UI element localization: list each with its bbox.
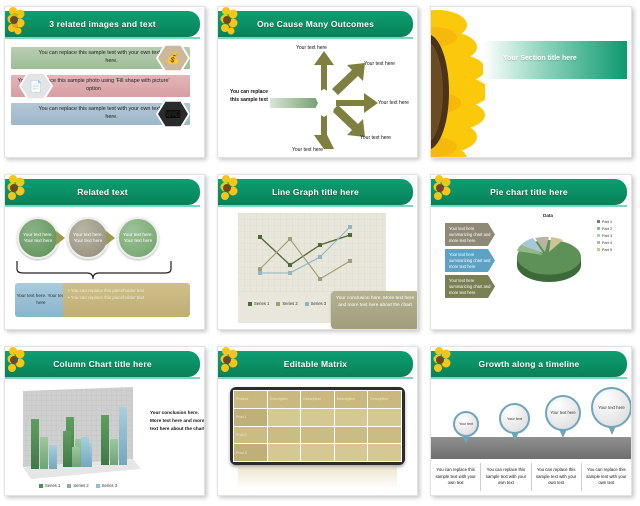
slide-title: Related text (77, 187, 128, 197)
column-chart-legend: Series 1 Series 2 Series 3 (39, 483, 117, 488)
pie-callout-text-2: Your text here summarizing chart and mor… (449, 252, 490, 269)
sunflower-icon (219, 347, 245, 377)
chevron-right-icon-2 (106, 231, 115, 245)
timeline-description-columns: You can replace this sample text with yo… (431, 463, 631, 491)
pie-callout-1[interactable]: Your text here summarizing chart and mor… (445, 223, 495, 246)
slide-banner: One Cause Many Outcomes (218, 11, 413, 37)
pin-tip-icon (559, 429, 567, 438)
header-cell-description-2: Description (301, 391, 335, 409)
circle-label-2: Your text here. Your text here (69, 232, 107, 245)
cell[interactable] (334, 426, 368, 444)
stacked-coins-image: 💰 (158, 45, 188, 71)
timeline-pin-1[interactable]: Your text (453, 411, 479, 444)
slide-banner: Line Graph title here (218, 179, 413, 205)
slide-title: One Cause Many Outcomes (257, 19, 374, 29)
pie-callout-text-1: Your text here summarizing chart and mor… (449, 226, 490, 243)
sunflower-icon (432, 175, 458, 205)
pin-tip-icon (462, 435, 470, 444)
legend-item-part-3: Part 3 (597, 233, 612, 240)
timeline-pin-4[interactable]: Your text here (591, 387, 632, 435)
pin-label-3: Your text here (550, 410, 575, 415)
legend-item-series-1: Series 1 (39, 483, 60, 488)
cell[interactable] (301, 408, 335, 426)
slide-pie-chart[interactable]: Pie chart title here Data Your text here… (430, 174, 632, 330)
conclusion-callout[interactable]: Your conclusion here. More text here and… (331, 291, 418, 329)
slide-title: Editable Matrix (284, 359, 347, 369)
slide-editable-matrix[interactable]: Editable Matrix Product Description (217, 346, 418, 496)
process-circle-2[interactable]: Your text here. Your text here (67, 217, 109, 259)
sunflower-icon (219, 175, 245, 205)
input-label: You can replace this sample text (228, 89, 270, 104)
conclusion-text: Your conclusion here. More text here and… (150, 409, 205, 432)
slide-banner: 3 related images and text (5, 11, 200, 37)
slide-thumbnail-grid: 3 related images and text You can replac… (0, 0, 640, 506)
timeline-column-4: You can replace this sample text with yo… (581, 463, 631, 491)
slide-banner: Related text (5, 179, 200, 205)
slide-cell-3[interactable]: Your Section title here (426, 0, 640, 168)
summary-text: Your text here. Your text here (15, 293, 67, 307)
cell[interactable] (267, 444, 301, 462)
pie-callout-2[interactable]: Your text here summarizing chart and mor… (445, 249, 495, 272)
header-cell-description-1: Description (267, 391, 301, 409)
legend-item-part-1: Part 1 (597, 219, 612, 226)
sunflower-icon (6, 175, 32, 205)
bullet-item-2: • You can replace this placeholder text (68, 294, 185, 301)
pie-callout-text-3: Your text here summarizing chart and mor… (449, 278, 490, 295)
slide-column-chart[interactable]: Column Chart title here (4, 346, 205, 496)
legend-item-series-2: Series 2 (67, 483, 88, 488)
slide-3-related-images[interactable]: 3 related images and text You can replac… (4, 6, 205, 158)
matrix-table[interactable]: Product Description Description Descript… (233, 390, 402, 462)
sunflower-icon (219, 7, 245, 37)
row-label-2: Prod 2 (234, 426, 268, 444)
section-title: Your Section title here (503, 55, 577, 62)
slide-cell-6[interactable]: Pie chart title here Data Your text here… (426, 168, 640, 340)
process-circle-1[interactable]: Your text here. Your text here (17, 217, 59, 259)
timeline-column-2: You can replace this sample text with yo… (480, 463, 530, 491)
circle-label-3: Your text here. Your text here (119, 232, 157, 245)
output-label-upper-right: Your text here (364, 61, 395, 67)
keyboard-image: ⌨ (158, 101, 188, 127)
output-label-lower-right: Your text here (360, 135, 391, 141)
banner-underline (218, 37, 413, 39)
cell[interactable] (267, 408, 301, 426)
cell[interactable] (267, 426, 301, 444)
slide-title: 3 related images and text (49, 19, 156, 29)
legend-item-part-5: Part 5 (597, 247, 612, 254)
cell[interactable] (368, 408, 402, 426)
pin-label-2: Your text (507, 416, 522, 421)
slide-banner: Pie chart title here (431, 179, 627, 205)
slide-cell-8[interactable]: Editable Matrix Product Description (213, 340, 426, 506)
slide-line-graph[interactable]: Line Graph title here (217, 174, 418, 330)
cell[interactable] (368, 426, 402, 444)
matrix-reflection (238, 467, 397, 489)
slide-cell-1[interactable]: 3 related images and text You can replac… (0, 0, 213, 168)
column-chart-3d (11, 385, 147, 489)
brochure-image: 📄 (21, 73, 51, 99)
slide-cell-7[interactable]: Column Chart title here (0, 340, 213, 506)
matrix-table-frame[interactable]: Product Description Description Descript… (230, 387, 405, 465)
pin-label-4: Your text here (598, 405, 625, 411)
sunflower-photo (431, 7, 485, 157)
header-cell-description-4: Description (368, 391, 402, 409)
sunflower-icon (432, 347, 458, 377)
slide-section-title[interactable]: Your Section title here (430, 6, 632, 158)
row-label-3: Prod 3 (234, 444, 268, 462)
cell[interactable] (334, 444, 368, 462)
sunflower-icon (6, 7, 32, 37)
legend-item-part-4: Part 4 (597, 240, 612, 247)
banner-underline (5, 377, 200, 379)
legend-item-part-2: Part 2 (597, 226, 612, 233)
timeline-pin-2[interactable]: Your text (499, 403, 530, 441)
pin-tip-icon (608, 426, 616, 435)
slide-banner: Column Chart title here (5, 351, 200, 377)
legend-item-series-3: Series 3 (96, 483, 117, 488)
header-cell-product: Product (234, 391, 268, 409)
slide-cell-9[interactable]: Growth along a timeline Your text (426, 340, 640, 506)
bullet-item-1: • You can replace this placeholder text (68, 287, 185, 294)
banner-underline (431, 377, 627, 379)
cell[interactable] (368, 444, 402, 462)
table-row[interactable]: Prod 2 (234, 426, 402, 444)
slide-growth-timeline[interactable]: Growth along a timeline Your text (430, 346, 632, 496)
bullet-box[interactable]: • You can replace this placeholder text … (63, 283, 190, 317)
chevron-right-icon-1 (56, 231, 65, 245)
header-cell-description-3: Description (334, 391, 368, 409)
timeline-pin-3[interactable]: Your text here (545, 395, 581, 438)
slide-title: Line Graph title here (272, 187, 359, 197)
banner-underline (5, 205, 200, 207)
banner-underline (5, 37, 200, 39)
process-circle-3[interactable]: Your text here. Your text here (117, 217, 159, 259)
slide-cell-5[interactable]: Line Graph title here (213, 168, 426, 340)
cell[interactable] (334, 408, 368, 426)
output-label-right: Your text here (378, 100, 409, 106)
banner-underline (431, 205, 627, 207)
slide-banner: Growth along a timeline (431, 351, 627, 377)
row-label-1: Prod 1 (234, 408, 268, 426)
banner-underline (218, 377, 413, 379)
table-row[interactable]: Prod 1 (234, 408, 402, 426)
pie-chart-3d (497, 221, 587, 297)
pie-chart-data-label: Data (543, 213, 553, 218)
brace-connector (15, 259, 175, 281)
pie-callout-3[interactable]: Your text here summarizing chart and mor… (445, 275, 495, 298)
cell[interactable] (301, 444, 335, 462)
slide-title: Pie chart title here (490, 187, 568, 197)
line-chart-legend: Series 1 Series 2 Series 3 (248, 301, 326, 306)
pie-chart-legend: Part 1 Part 2 Part 3 Part 4 Part 5 (597, 219, 612, 254)
legend-item-series-3: Series 3 (305, 301, 326, 306)
slide-title: Growth along a timeline (479, 359, 580, 369)
cell[interactable] (301, 426, 335, 444)
slide-cell-2[interactable]: One Cause Many Outcomes (213, 0, 426, 168)
slide-cell-4[interactable]: Related text Your text here. Your text h… (0, 168, 213, 340)
summary-box[interactable]: Your text here. Your text here (15, 283, 67, 317)
pin-label-1: Your text (459, 422, 473, 427)
slide-title: Column Chart title here (53, 359, 152, 369)
slide-related-text[interactable]: Related text Your text here. Your text h… (4, 174, 205, 330)
legend-item-series-1: Series 1 (248, 301, 269, 306)
banner-underline (218, 205, 413, 207)
circle-label-1: Your text here. Your text here (19, 232, 57, 245)
output-label-top: Your text here (296, 45, 327, 51)
table-row[interactable]: Prod 3 (234, 444, 402, 462)
sunflower-icon (6, 347, 32, 377)
slide-banner: Editable Matrix (218, 351, 413, 377)
timeline-column-1: You can replace this sample text with yo… (431, 463, 480, 491)
legend-item-series-2: Series 2 (276, 301, 297, 306)
timeline-column-3: You can replace this sample text with yo… (531, 463, 581, 491)
slide-one-cause-many-outcomes[interactable]: One Cause Many Outcomes (217, 6, 418, 158)
pin-tip-icon (511, 432, 519, 441)
output-label-bottom: Your text here (292, 147, 323, 153)
table-header-row: Product Description Description Descript… (234, 391, 402, 409)
